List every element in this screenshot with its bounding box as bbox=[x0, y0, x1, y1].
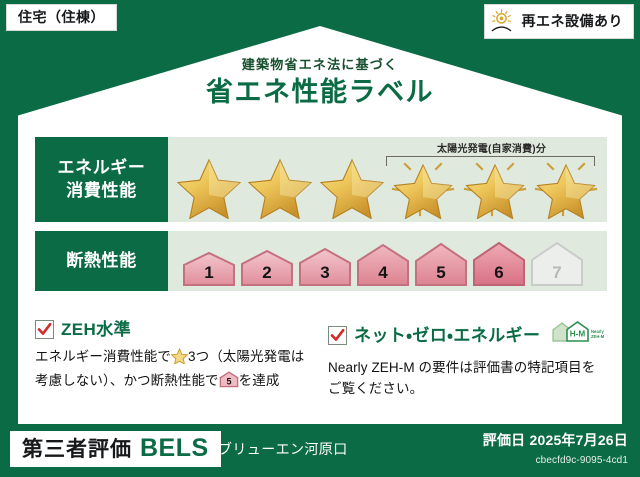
insulation-level: 3 bbox=[298, 247, 352, 287]
note-net-zero-energy: ネット・ゼロ・エネルギー H-M Nearly ZEH-M Nearly ZEH… bbox=[328, 320, 607, 399]
note-title: ZEH水準 bbox=[61, 321, 131, 338]
note-body: Nearly ZEH-M の要件は評価書の特記項目をご覧ください。 bbox=[328, 358, 607, 399]
solar-bracket-caption: 太陽光発電(自家消費)分 bbox=[364, 140, 619, 155]
zeh-m-logo-icon: H-M Nearly ZEH-M bbox=[547, 320, 604, 350]
energy-key-line2: 消費性能 bbox=[66, 180, 136, 203]
evaluation-date-label: 評価日 bbox=[483, 432, 526, 448]
insulation-level: 2 bbox=[240, 249, 294, 287]
page-title: 省エネ性能ラベル bbox=[0, 78, 640, 108]
insulation-level-number: 3 bbox=[298, 264, 352, 281]
insulation-level: 1 bbox=[182, 251, 236, 287]
sun-solar-icon bbox=[491, 9, 517, 33]
property-name: ブリューエン河原口 bbox=[218, 442, 348, 456]
insulation-level-number: 2 bbox=[240, 264, 294, 281]
svg-text:ZEH-M: ZEH-M bbox=[591, 334, 604, 339]
insulation-level-number: 7 bbox=[530, 264, 584, 281]
insulation-level: 4 bbox=[356, 243, 410, 287]
energy-performance-key: エネルギー 消費性能 bbox=[35, 137, 168, 222]
insulation-level-inactive: 7 bbox=[530, 241, 584, 287]
notes-section: ZEH水準 エネルギー消費性能で3つ（太陽光発電は考慮しない）、かつ断熱性能で5… bbox=[35, 320, 607, 399]
note-body-part1: エネルギー消費性能で bbox=[35, 349, 171, 364]
renewable-energy-label: 再エネ設備あり bbox=[522, 14, 624, 28]
svg-text:5: 5 bbox=[226, 376, 231, 386]
house-level-5-icon: 5 bbox=[219, 371, 239, 395]
evaluation-id: cbecfd9c-9095-4cd1 bbox=[536, 456, 628, 466]
insulation-level: 6 bbox=[472, 241, 526, 287]
title-subtitle: 建築物省エネ法に基づく bbox=[0, 58, 640, 72]
note-header: ネット・ゼロ・エネルギー H-M Nearly ZEH-M bbox=[328, 320, 607, 350]
note-header: ZEH水準 bbox=[35, 320, 314, 339]
evaluation-date-value: 2025年7月26日 bbox=[529, 432, 628, 448]
insulation-level-number: 6 bbox=[472, 264, 526, 281]
note-zeh-standard: ZEH水準 エネルギー消費性能で3つ（太陽光発電は考慮しない）、かつ断熱性能で5… bbox=[35, 320, 314, 399]
footer-bar: 第三者評価 BELS ブリューエン河原口 評価日 2025年7月26日 cbec… bbox=[0, 425, 640, 477]
energy-performance-row: エネルギー 消費性能 太陽光発電(自家消費)分 bbox=[35, 137, 607, 222]
svg-text:H-M: H-M bbox=[570, 329, 586, 338]
insulation-level-number: 5 bbox=[414, 264, 468, 281]
performance-rows: エネルギー 消費性能 太陽光発電(自家消費)分 bbox=[35, 137, 607, 300]
insulation-key-label: 断熱性能 bbox=[66, 250, 136, 273]
star-icon bbox=[171, 348, 188, 371]
bels-plate: 第三者評価 BELS bbox=[10, 431, 221, 467]
energy-key-line1: エネルギー bbox=[58, 157, 146, 180]
check-icon bbox=[328, 326, 347, 345]
star-icon bbox=[319, 155, 385, 219]
insulation-level-number: 4 bbox=[356, 264, 410, 281]
star-icon bbox=[176, 155, 242, 219]
evaluation-date: 評価日 2025年7月26日 bbox=[483, 433, 628, 447]
insulation-performance-value: 1 2 3 4 bbox=[168, 231, 607, 291]
energy-performance-value: 太陽光発電(自家消費)分 bbox=[168, 137, 607, 222]
third-party-label: 第三者評価 bbox=[22, 439, 132, 460]
title-block: 建築物省エネ法に基づく 省エネ性能ラベル bbox=[0, 58, 640, 108]
insulation-level-number: 1 bbox=[182, 264, 236, 281]
insulation-performance-row: 断熱性能 1 2 3 bbox=[35, 231, 607, 291]
solar-bracket bbox=[386, 156, 595, 166]
note-body-part3: を達成 bbox=[239, 373, 280, 388]
housing-type-label: 住宅（住棟） bbox=[18, 9, 105, 25]
housing-type-tag: 住宅（住棟） bbox=[6, 4, 117, 31]
renewable-energy-tag: 再エネ設備あり bbox=[484, 4, 635, 39]
insulation-level-scale: 1 2 3 4 bbox=[182, 241, 584, 287]
insulation-level: 5 bbox=[414, 242, 468, 287]
star-icon bbox=[247, 155, 313, 219]
note-body: エネルギー消費性能で3つ（太陽光発電は考慮しない）、かつ断熱性能で5を達成 bbox=[35, 347, 314, 394]
energy-performance-label: 住宅（住棟） 再エネ設備あり 建築物省エネ法に基づく bbox=[0, 0, 640, 477]
check-icon bbox=[35, 320, 54, 339]
insulation-performance-key: 断熱性能 bbox=[35, 231, 168, 291]
bels-logo-text: BELS bbox=[140, 436, 209, 461]
note-title: ネット・ゼロ・エネルギー bbox=[354, 327, 540, 344]
